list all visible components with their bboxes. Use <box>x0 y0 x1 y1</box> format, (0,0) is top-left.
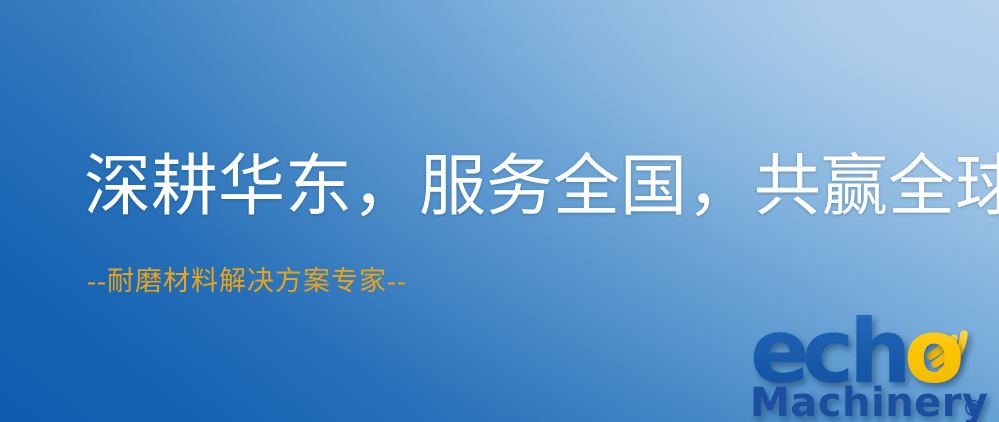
echo-machinery-logo: e c h o Machinery ® <box>748 292 999 422</box>
banner-subtitle: --耐磨材料解决方案专家-- <box>87 267 407 297</box>
promo-banner: 深耕华东，服务全国，共赢全球 --耐磨材料解决方案专家-- <box>0 0 999 422</box>
logo-registered-mark: ® <box>962 397 984 422</box>
logo-tagline: Machinery <box>750 380 989 422</box>
banner-headline: 深耕华东，服务全国，共赢全球 <box>84 152 999 223</box>
